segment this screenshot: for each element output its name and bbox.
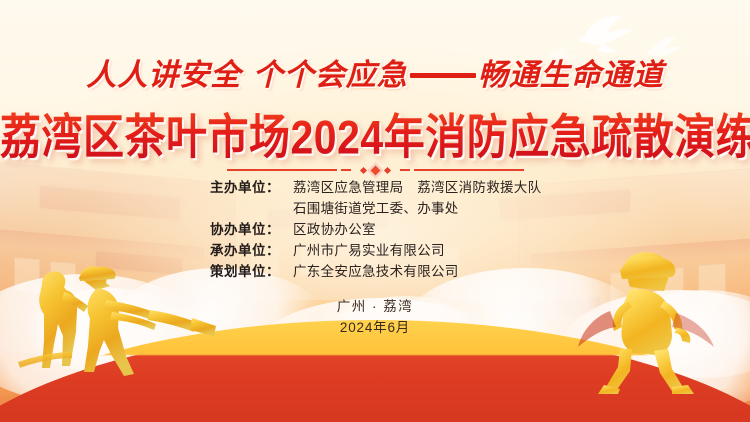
organizer-value: 广东全安应急技术有限公司 xyxy=(293,262,540,282)
divider-line-left-short xyxy=(341,169,351,171)
tagline-part-1: 人人讲安全 个个会应急 xyxy=(86,58,407,93)
organizer-label: 策划单位： xyxy=(210,262,293,282)
poster-tagline: 人人讲安全 个个会应急畅通生命通道 xyxy=(0,50,750,94)
tagline-part-2: 畅通生命通道 xyxy=(478,58,664,93)
organizer-row: 石围塘街道党工委、办事处 xyxy=(210,199,540,219)
event-location: 广州 · 荔湾 xyxy=(0,297,750,317)
organizer-value: 石围塘街道党工委、办事处 xyxy=(293,199,540,219)
divider-line-right xyxy=(414,169,524,171)
decorative-divider xyxy=(0,163,750,177)
divider-line-left xyxy=(227,169,337,171)
organizer-value: 区政协办公室 xyxy=(293,220,540,240)
organizer-label: 协办单位： xyxy=(210,220,293,240)
organizer-row: 主办单位： 荔湾区应急管理局 荔湾区消防救援大队 xyxy=(210,178,540,198)
divider-line-right-short xyxy=(400,169,410,171)
organizer-list: 主办单位： 荔湾区应急管理局 荔湾区消防救援大队 石围塘街道党工委、办事处 协办… xyxy=(0,178,750,282)
organizer-label xyxy=(210,199,293,219)
diamond-ornament-icon xyxy=(359,165,392,176)
tagline-dash-icon xyxy=(410,73,476,78)
organizer-row: 协办单位： 区政协办公室 xyxy=(210,220,540,240)
poster-footer: 广州 · 荔湾 2024年6月 xyxy=(0,297,750,338)
organizer-row: 策划单位： 广东全安应急技术有限公司 xyxy=(210,262,540,282)
event-date: 2024年6月 xyxy=(0,317,750,338)
organizer-label: 承办单位： xyxy=(210,241,293,261)
organizer-value: 广州市广易实业有限公司 xyxy=(293,241,540,261)
organizer-row: 承办单位： 广州市广易实业有限公司 xyxy=(210,241,540,261)
page-title: 荔湾区茶叶市场2024年消防应急疏散演练 xyxy=(0,98,750,168)
emergency-drill-poster: 人人讲安全 个个会应急畅通生命通道 荔湾区茶叶市场2024年消防应急疏散演练 主… xyxy=(0,0,750,422)
organizer-label: 主办单位： xyxy=(210,178,293,198)
organizer-value: 荔湾区应急管理局 荔湾区消防救援大队 xyxy=(293,178,541,198)
